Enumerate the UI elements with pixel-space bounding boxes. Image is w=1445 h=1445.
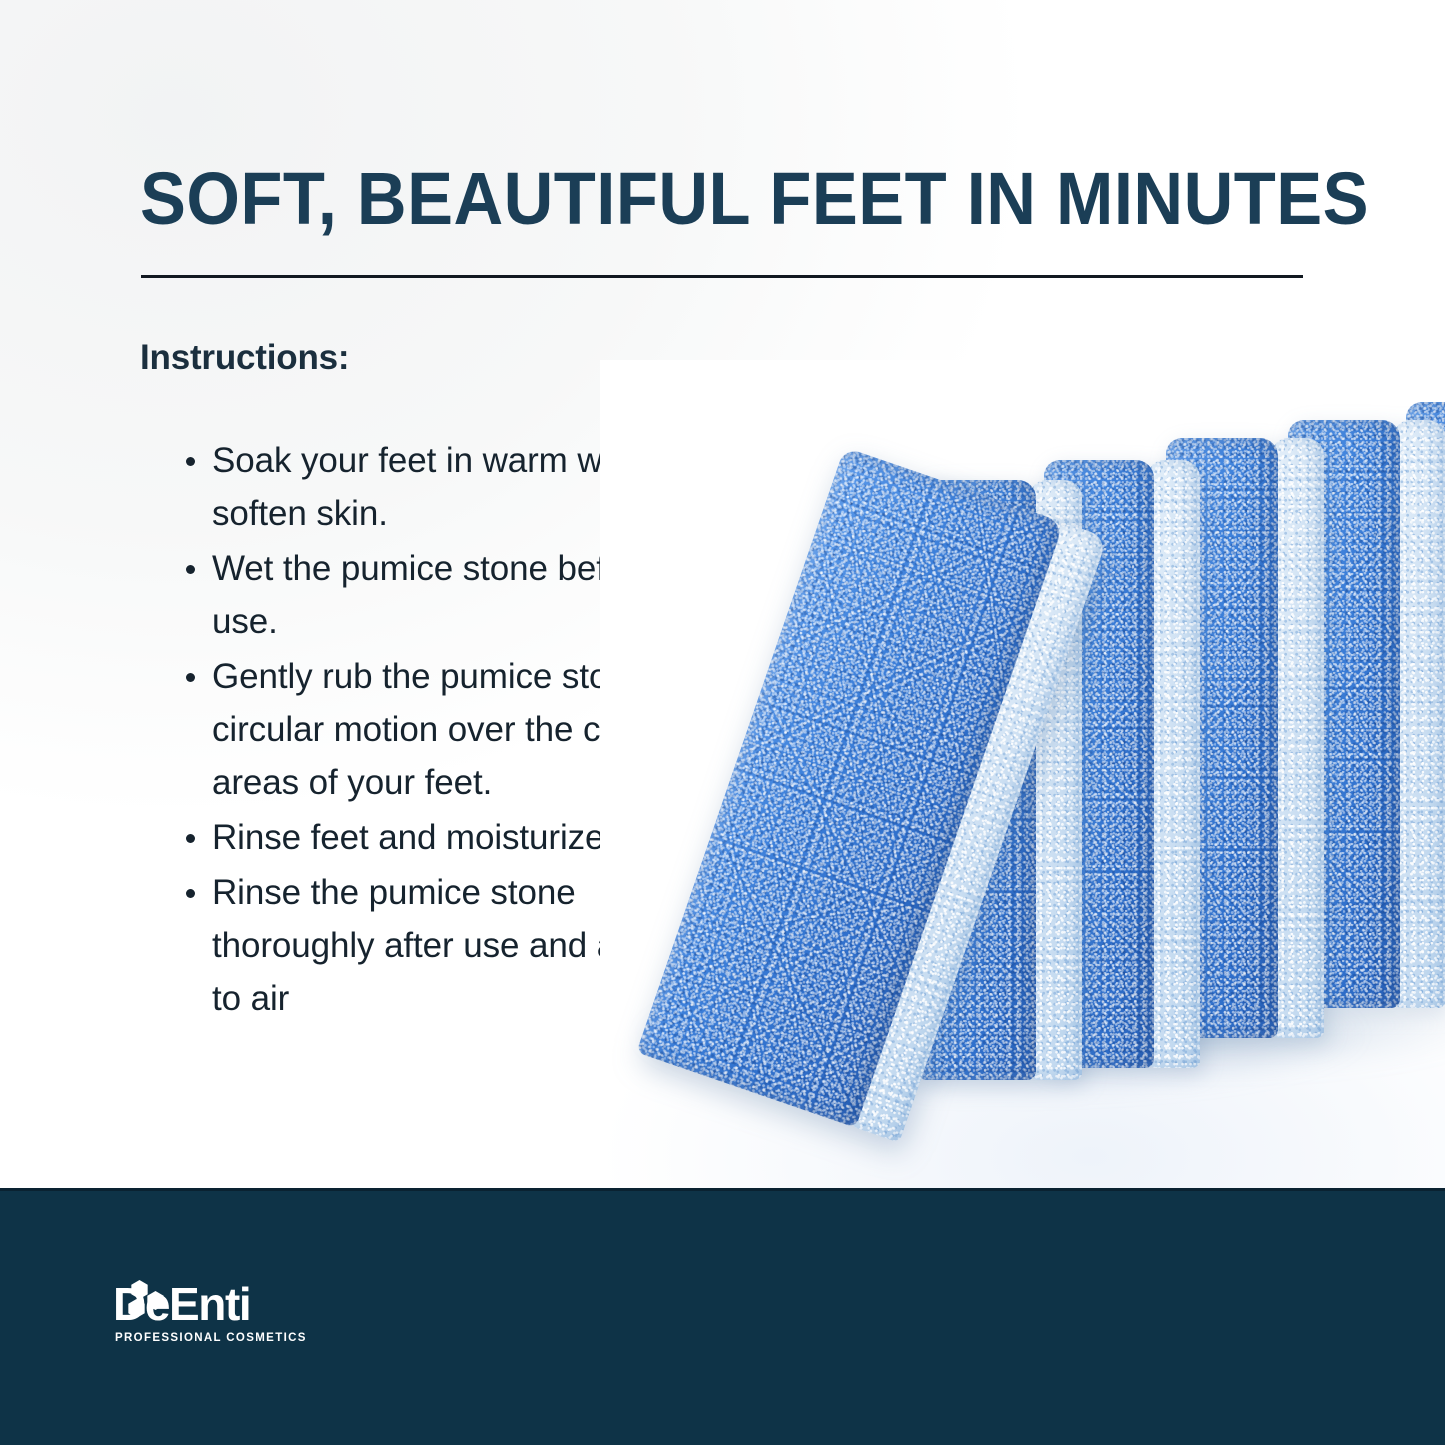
brand-tagline: PROFESSIONAL COSMETICS [115, 1332, 307, 1344]
footer-top-edge [0, 1188, 1445, 1191]
brand-logo: DeEnti PROFESSIONAL COSMETICS [113, 1281, 353, 1361]
instructions-heading: Instructions: [140, 338, 349, 378]
pumice-bar-side [1394, 420, 1445, 1008]
title-divider [141, 275, 1303, 278]
pumice-bar-side [1272, 438, 1324, 1038]
product-photo [600, 360, 1445, 1190]
infographic-page: SOFT, BEAUTIFUL FEET IN MINUTES Instruct… [0, 0, 1445, 1445]
pumice-bar-side [1148, 460, 1200, 1068]
brand-name: DeEnti [113, 1281, 250, 1327]
page-title: SOFT, BEAUTIFUL FEET IN MINUTES [140, 162, 1256, 236]
